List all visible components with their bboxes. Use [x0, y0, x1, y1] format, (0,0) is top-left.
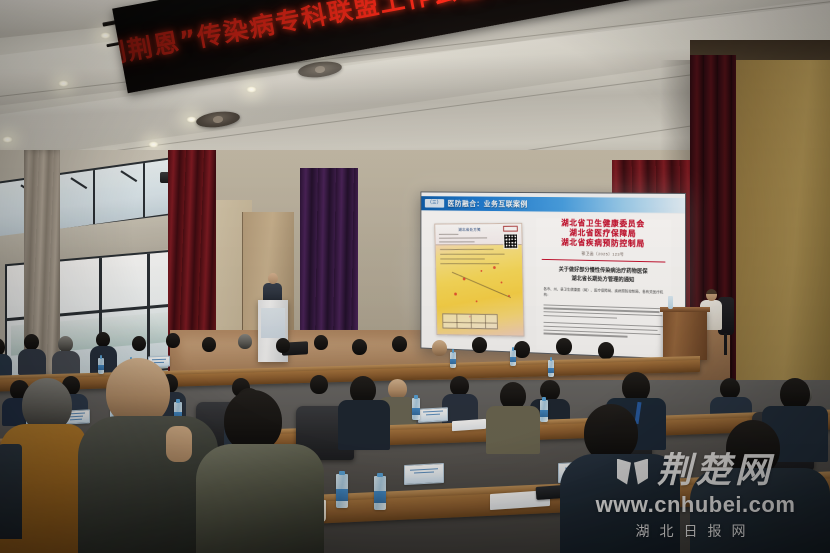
qr-code-icon: [503, 233, 518, 248]
audience-torso: [338, 400, 390, 450]
name-card: [418, 407, 448, 423]
seated-person-head: [706, 289, 717, 301]
watermark-subtitle: 湖北日报网: [573, 521, 818, 541]
conference-hall-photo: （三） 医防融合：业务互联案例 湖北省处方笺: [0, 0, 830, 553]
speaker-head: [268, 273, 278, 284]
audience-torso: [486, 406, 540, 454]
doc-org-3: 湖北省疾病预防控制局: [536, 238, 671, 250]
foreground-person-centre: [196, 390, 324, 553]
doc-body-intro: 各市、州、县卫生健康委（局）、医疗保障局、疾病预防控制局、各有关医疗机构：: [544, 287, 664, 301]
slide-title-text: 医防融合：业务互联案例: [448, 198, 528, 209]
watermark: 荆楚网 www.cnhubei.com 湖北日报网: [573, 454, 818, 541]
prescription-title: 湖北省处方笺: [458, 227, 481, 233]
jingchu-logo-icon: [617, 457, 651, 487]
prescription-table: [442, 313, 498, 329]
doc-subject-line-2: 湖北省长期处方管理的通知: [545, 275, 661, 286]
watermark-url: www.cnhubei.com: [573, 492, 818, 518]
prescription-image: 湖北省处方笺: [434, 223, 524, 337]
water-bottle: [336, 474, 348, 508]
ceiling-downlight-icon: [148, 141, 159, 148]
prescription-badge: [503, 226, 518, 232]
doc-red-rule: [542, 259, 666, 263]
name-card: [404, 463, 444, 485]
trend-line: [452, 272, 511, 298]
water-bottle: [374, 476, 386, 510]
stage-water-bottle: [668, 296, 673, 309]
slide-title-chip: （三）: [425, 199, 444, 208]
doc-number: 鄂卫函〔2025〕123号: [536, 250, 671, 259]
water-bottle: [540, 400, 548, 422]
stage-chair-leg: [724, 333, 727, 355]
ceiling-downlight-icon: [58, 80, 69, 87]
water-bottle: [510, 350, 516, 366]
watermark-brand: 荆楚网: [657, 454, 774, 489]
ceiling-downlight-icon: [2, 136, 13, 143]
water-bottle: [412, 398, 420, 420]
slide-title-bar: （三） 医防融合：业务互联案例: [421, 196, 685, 213]
foreground-person-orange: [0, 378, 86, 553]
